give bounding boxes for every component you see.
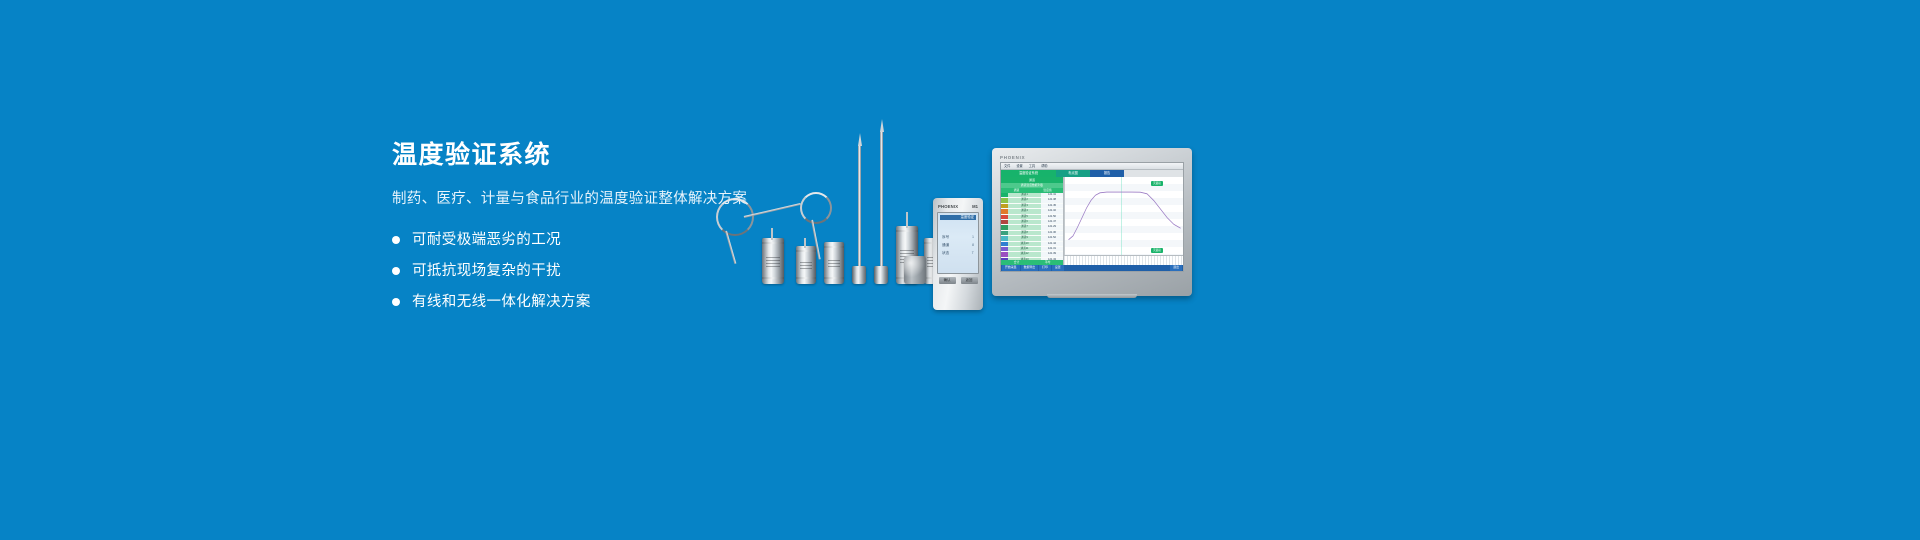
channel-color-swatch	[1001, 198, 1008, 202]
channel-color-swatch	[1001, 220, 1008, 224]
channel-name-cell: 通道5	[1008, 215, 1041, 219]
channel-name-cell: 通道3	[1008, 204, 1041, 208]
menu-item-file[interactable]: 文件	[1001, 163, 1013, 169]
export-data-button[interactable]: 数据导出	[1021, 265, 1039, 271]
channel-name-cell: 通道9	[1008, 236, 1041, 240]
channel-name-cell: 通道6	[1008, 220, 1041, 224]
channel-value-cell: 121.44	[1041, 242, 1063, 246]
channel-name-cell: 通道10	[1008, 242, 1041, 246]
monitor-brand: PHOENIX	[1000, 155, 1184, 160]
channel-color-swatch	[1001, 215, 1008, 219]
handheld-confirm-button[interactable]: 确认	[939, 277, 956, 284]
temperature-validation-banner: 温度验证系统 制药、医疗、计量与食品行业的温度验证整体解决方案 可耐受极端恶劣的…	[0, 0, 1920, 540]
list-item: 通道 8	[940, 241, 976, 249]
channel-color-swatch	[1001, 204, 1008, 208]
bullet-dot-icon	[392, 236, 400, 244]
channel-value-cell: 121.31	[1041, 247, 1063, 251]
channel-value-cell: 121.29	[1041, 225, 1063, 229]
channel-color-swatch	[1001, 231, 1008, 235]
tab-layout-map[interactable]: 布点图	[1056, 170, 1090, 177]
logger-stem	[906, 212, 908, 228]
logger-stem	[771, 228, 773, 240]
readout-value: 1	[972, 233, 974, 241]
channel-color-swatch	[1001, 252, 1008, 256]
channel-color-swatch	[1001, 242, 1008, 246]
readout-label: 序号	[942, 233, 949, 241]
chart-series-line	[1069, 192, 1181, 240]
channel-color-swatch	[1001, 225, 1008, 229]
chart-badge-sterilize: 灭菌段	[1151, 181, 1163, 186]
data-logger-3	[824, 242, 844, 284]
needle-probe-tall	[858, 146, 861, 270]
channel-name-cell: 通道12	[1008, 252, 1041, 256]
temperature-chart: 灭菌段 降温段 灭菌段	[1064, 177, 1183, 265]
channel-value-cell: 121.52	[1041, 236, 1063, 240]
readout-label: 状态	[942, 249, 949, 257]
settings-button[interactable]: 设置	[1052, 265, 1064, 271]
probe-base	[852, 266, 866, 284]
coiled-sensor-small	[800, 192, 832, 224]
window-body: 通道 通道温度数据列表 通道 温度值 通道1121.41通道2121.38通道3…	[1001, 177, 1183, 265]
readout-value: 8	[972, 241, 974, 249]
channel-value-cell: 121.38	[1041, 198, 1063, 202]
channel-color-swatch	[1001, 209, 1008, 213]
data-logger-1	[762, 238, 784, 284]
probe-base	[874, 266, 888, 284]
handheld-back-button[interactable]: 返回	[961, 277, 978, 284]
readout-label: 通道	[942, 241, 949, 249]
channel-value-cell: 121.45	[1041, 204, 1063, 208]
menu-item-tools[interactable]: 工具	[1026, 163, 1038, 169]
channel-name-cell: 通道1	[1008, 193, 1041, 197]
channel-color-swatch	[1001, 247, 1008, 251]
list-item: 序号 1	[940, 233, 976, 241]
chart-x-axis	[1064, 255, 1183, 265]
sensor-disc	[904, 256, 926, 284]
feature-text: 有线和无线一体化解决方案	[412, 292, 591, 312]
handheld-reader[interactable]: PHOENIX M1 温度验证 序号 1 通道 8 状态 T	[933, 198, 983, 310]
product-photo-group: PHOENIX M1 温度验证 序号 1 通道 8 状态 T	[700, 120, 1220, 305]
bullet-dot-icon	[392, 298, 400, 306]
channel-value-cell: 121.41	[1041, 193, 1063, 197]
needle-probe-taller	[880, 132, 883, 270]
table-body: 通道1121.41通道2121.38通道3121.45通道4121.32通道51…	[1001, 193, 1063, 260]
status-bar: 开始采集 数据导出 打印 设置 退出	[1001, 265, 1183, 271]
channel-value-cell: 121.47	[1041, 220, 1063, 224]
handheld-readout-list: 序号 1 通道 8 状态 T	[940, 233, 976, 257]
channel-name-cell: 通道4	[1008, 209, 1041, 213]
tab-report[interactable]: 报告	[1090, 170, 1124, 177]
handheld-brand-row: PHOENIX M1	[936, 202, 980, 211]
exit-button[interactable]: 退出	[1170, 265, 1182, 271]
print-button[interactable]: 打印	[1039, 265, 1051, 271]
handheld-logo: PHOENIX	[938, 204, 958, 209]
data-logger-2	[796, 246, 816, 284]
chart-badge-cursor-foot: 灭菌段	[1151, 248, 1163, 253]
monitor-stand	[1047, 294, 1137, 298]
bullet-dot-icon	[392, 267, 400, 275]
tab-filler	[1124, 170, 1183, 177]
menu-bar: 文件 设置 工具 帮助	[1001, 163, 1183, 170]
menu-item-help[interactable]: 帮助	[1038, 163, 1050, 169]
channel-name-cell: 通道7	[1008, 225, 1041, 229]
list-item: 状态 T	[940, 249, 976, 257]
tab-validation-system[interactable]: 温度验证系统	[1001, 170, 1056, 177]
start-acquisition-button[interactable]: 开始采集	[1002, 265, 1020, 271]
channel-name-cell: 通道2	[1008, 198, 1041, 202]
channel-color-swatch	[1001, 193, 1008, 197]
channel-value-cell: 121.50	[1041, 215, 1063, 219]
channel-name-cell: 通道11	[1008, 247, 1041, 251]
channel-value-cell: 121.39	[1041, 252, 1063, 256]
menu-item-settings[interactable]: 设置	[1013, 163, 1025, 169]
chart-plot-area: 灭菌段 降温段 灭菌段	[1064, 177, 1183, 255]
chart-line-svg	[1065, 177, 1183, 255]
feature-text: 可耐受极端恶劣的工况	[412, 230, 561, 250]
channel-color-swatch	[1001, 236, 1008, 240]
channel-name-cell: 通道8	[1008, 231, 1041, 235]
handheld-screen: 温度验证 序号 1 通道 8 状态 T	[937, 212, 979, 274]
readout-value: T	[972, 249, 974, 257]
feature-text: 可抵抗现场复杂的干扰	[412, 261, 561, 281]
handheld-screen-title: 温度验证	[940, 215, 976, 220]
handheld-model: M1	[972, 204, 978, 209]
channel-value-cell: 121.36	[1041, 231, 1063, 235]
channel-table: 通道 通道温度数据列表 通道 温度值 通道1121.41通道2121.38通道3…	[1001, 177, 1064, 265]
software-window: 文件 设置 工具 帮助 温度验证系统 布点图 报告 通道 通道温度数据列表	[1000, 162, 1184, 272]
tab-bar: 温度验证系统 布点图 报告	[1001, 170, 1183, 177]
logger-stem	[804, 238, 806, 248]
monitor-display: PHOENIX 文件 设置 工具 帮助 温度验证系统 布点图 报告 通道	[992, 148, 1192, 296]
handheld-keypad: 确认 返回	[936, 277, 980, 284]
channel-value-cell: 121.32	[1041, 209, 1063, 213]
